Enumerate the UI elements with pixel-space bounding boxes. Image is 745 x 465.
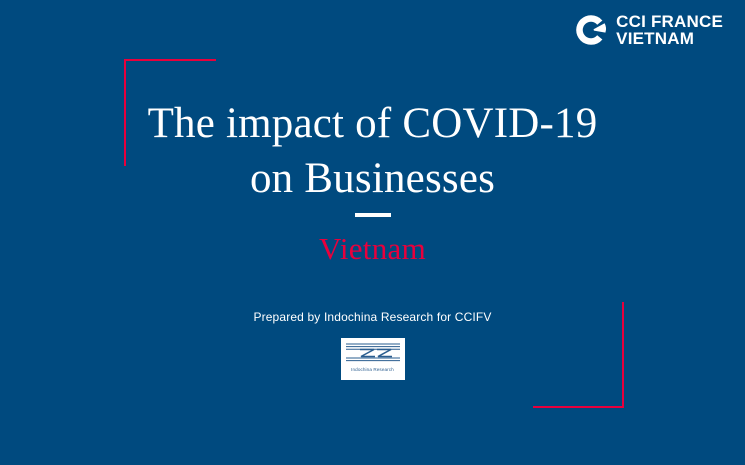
indochina-research-wave-icon — [344, 340, 402, 365]
cci-monogram-icon — [574, 13, 608, 47]
cci-wordmark-line2: VIETNAM — [616, 30, 723, 47]
title-line-2: on Businesses — [0, 151, 745, 206]
indochina-research-logo: Indochina Research — [341, 338, 405, 380]
cci-france-vietnam-logo: CCI FRANCE VIETNAM — [574, 13, 723, 48]
cci-wordmark-line1: CCI FRANCE — [616, 13, 723, 30]
title-line-1: The impact of COVID-19 — [0, 96, 745, 151]
credit-line: Prepared by Indochina Research for CCIFV — [0, 310, 745, 324]
title-divider — [355, 213, 391, 217]
country-subtitle: Vietnam — [0, 231, 745, 267]
page-title: The impact of COVID-19 on Businesses — [0, 96, 745, 206]
title-slide: CCI FRANCE VIETNAM The impact of COVID-1… — [0, 0, 745, 465]
cci-wordmark: CCI FRANCE VIETNAM — [616, 13, 723, 48]
indochina-research-caption: Indochina Research — [351, 367, 394, 372]
